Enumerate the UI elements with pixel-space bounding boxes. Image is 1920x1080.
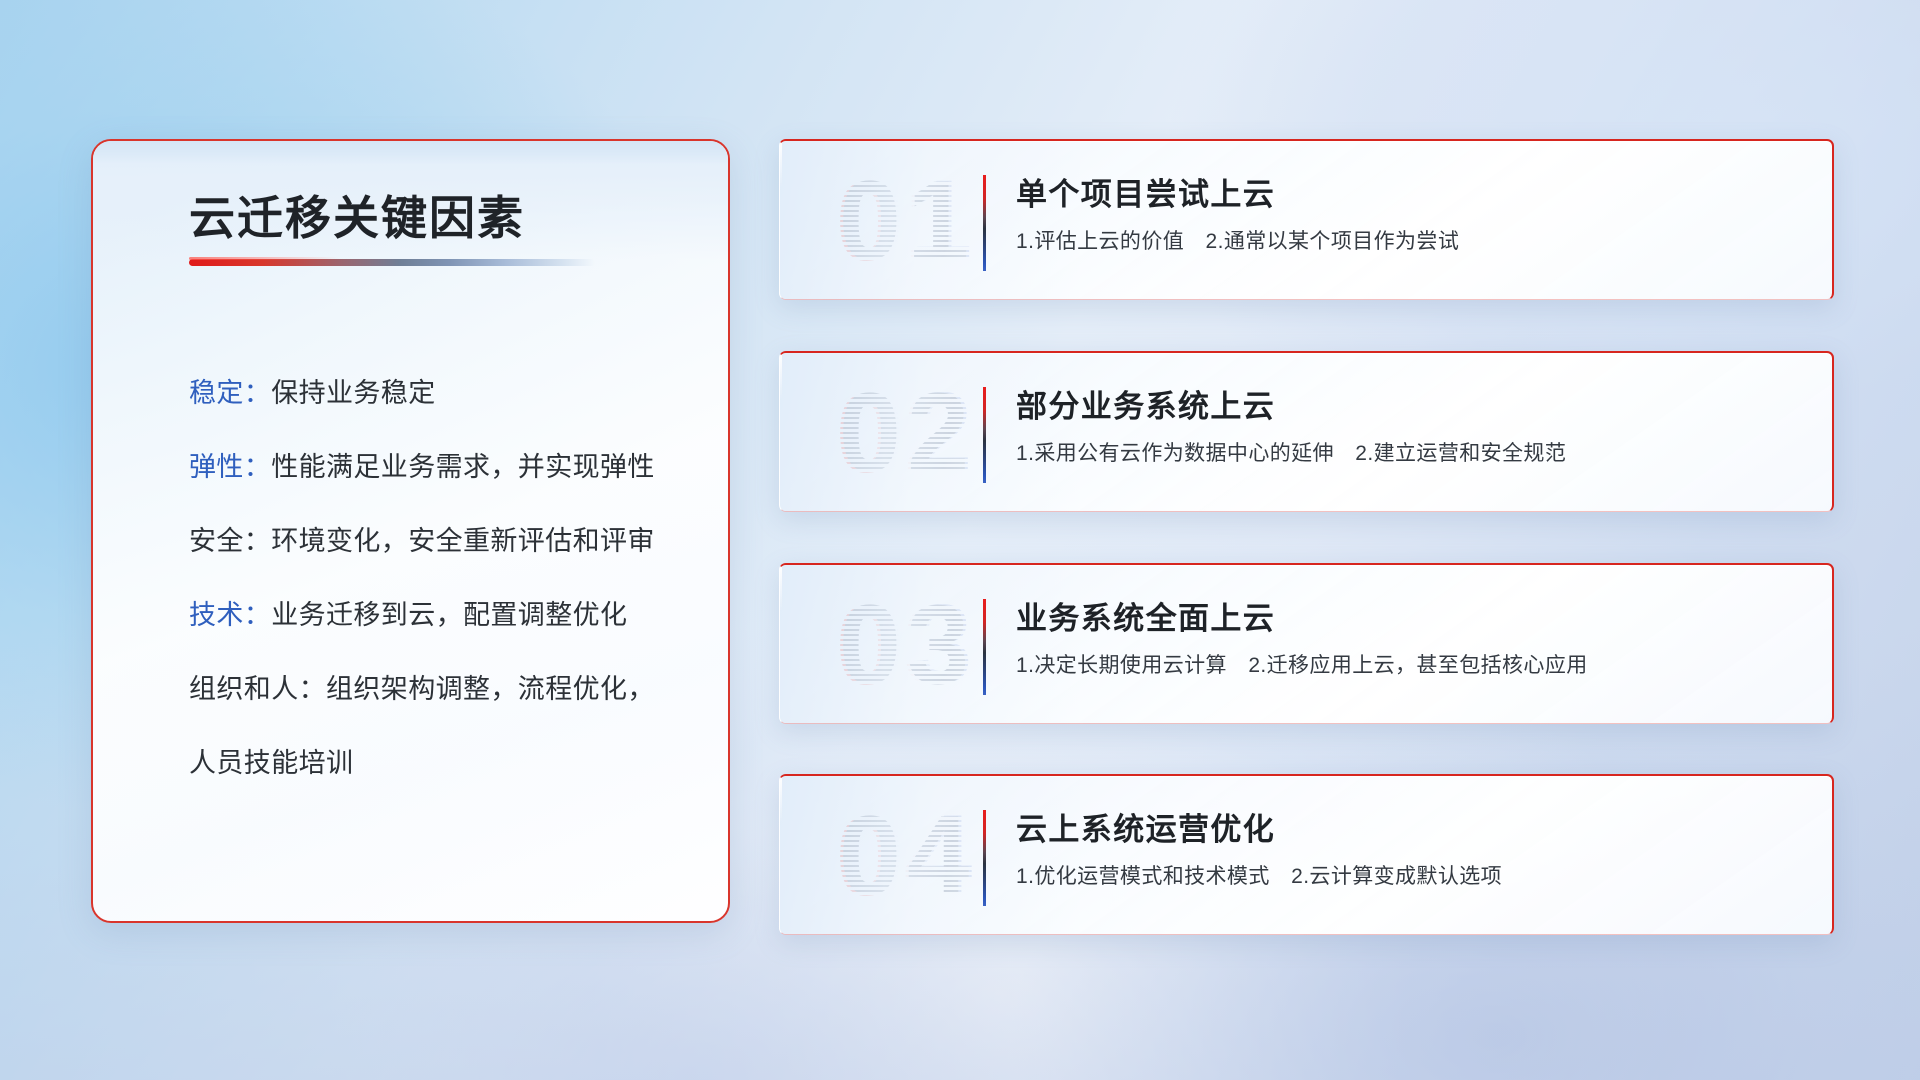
step-description: 1.优化运营模式和技术模式 2.云计算变成默认选项 bbox=[1016, 860, 1502, 890]
panel-top-mask bbox=[91, 139, 730, 164]
step-title: 部分业务系统上云 bbox=[1016, 381, 1275, 426]
step-card-01[interactable]: 01 01 01 单个项目尝试上云 1.评估上云的价值 2.通常以某个项目作为尝… bbox=[779, 139, 1834, 300]
factor-label: 安全： bbox=[189, 526, 271, 556]
step-number-main: 01 bbox=[812, 155, 1002, 287]
list-item: 人员技能培训 bbox=[189, 726, 709, 800]
step-title: 云上系统运营优化 bbox=[1016, 804, 1275, 849]
step-card-04[interactable]: 04 04 04 云上系统运营优化 1.优化运营模式和技术模式 2.云计算变成默… bbox=[779, 774, 1834, 935]
title-underline-rule bbox=[189, 259, 595, 266]
list-item: 安全：环境变化，安全重新评估和评审 bbox=[189, 504, 709, 578]
accent-divider-bar bbox=[983, 387, 986, 483]
factor-text: 人员技能培训 bbox=[189, 748, 353, 778]
factor-label: 弹性： bbox=[189, 452, 271, 482]
factor-label: 技术： bbox=[189, 600, 271, 630]
step-description: 1.采用公有云作为数据中心的延伸 2.建立运营和安全规范 bbox=[1016, 437, 1566, 467]
card-left-highlight bbox=[780, 353, 782, 399]
step-number-02: 02 02 02 bbox=[812, 367, 1002, 499]
factor-text: 性能满足业务需求，并实现弹性 bbox=[271, 452, 655, 482]
step-description: 1.评估上云的价值 2.通常以某个项目作为尝试 bbox=[1016, 225, 1459, 255]
factor-text: 环境变化，安全重新评估和评审 bbox=[271, 526, 655, 556]
step-title: 单个项目尝试上云 bbox=[1016, 169, 1275, 214]
list-item: 稳定：保持业务稳定 bbox=[189, 356, 709, 430]
page-title: 云迁移关键因素 bbox=[189, 182, 525, 248]
card-left-highlight bbox=[780, 776, 782, 822]
step-number-main: 04 bbox=[812, 790, 1002, 922]
step-number-01: 01 01 01 bbox=[812, 155, 1002, 287]
step-number-04: 04 04 04 bbox=[812, 790, 1002, 922]
factor-list: 稳定：保持业务稳定 弹性：性能满足业务需求，并实现弹性 安全：环境变化，安全重新… bbox=[189, 356, 709, 800]
factor-text: 保持业务稳定 bbox=[271, 378, 435, 408]
accent-divider-bar bbox=[983, 599, 986, 695]
step-number-main: 02 bbox=[812, 367, 1002, 499]
card-left-highlight bbox=[780, 565, 782, 611]
step-description: 1.决定长期使用云计算 2.迁移应用上云，甚至包括核心应用 bbox=[1016, 649, 1588, 679]
list-item: 组织和人：组织架构调整，流程优化， bbox=[189, 652, 709, 726]
factor-text: 组织架构调整，流程优化， bbox=[326, 674, 655, 704]
step-card-02[interactable]: 02 02 02 部分业务系统上云 1.采用公有云作为数据中心的延伸 2.建立运… bbox=[779, 351, 1834, 512]
step-number-03: 03 03 03 bbox=[812, 579, 1002, 711]
factor-text: 业务迁移到云，配置调整优化 bbox=[271, 600, 627, 630]
slide-stage: 云迁移关键因素 稳定：保持业务稳定 弹性：性能满足业务需求，并实现弹性 安全：环… bbox=[0, 0, 1920, 1080]
accent-divider-bar bbox=[983, 175, 986, 271]
step-number-main: 03 bbox=[812, 579, 1002, 711]
accent-divider-bar bbox=[983, 810, 986, 906]
factor-label: 组织和人： bbox=[189, 674, 326, 704]
key-factors-panel: 云迁移关键因素 稳定：保持业务稳定 弹性：性能满足业务需求，并实现弹性 安全：环… bbox=[91, 139, 730, 923]
list-item: 弹性：性能满足业务需求，并实现弹性 bbox=[189, 430, 709, 504]
step-card-03[interactable]: 03 03 03 业务系统全面上云 1.决定长期使用云计算 2.迁移应用上云，甚… bbox=[779, 563, 1834, 724]
factor-label: 稳定： bbox=[189, 378, 271, 408]
card-left-highlight bbox=[780, 141, 782, 187]
list-item: 技术：业务迁移到云，配置调整优化 bbox=[189, 578, 709, 652]
step-title: 业务系统全面上云 bbox=[1016, 593, 1275, 638]
